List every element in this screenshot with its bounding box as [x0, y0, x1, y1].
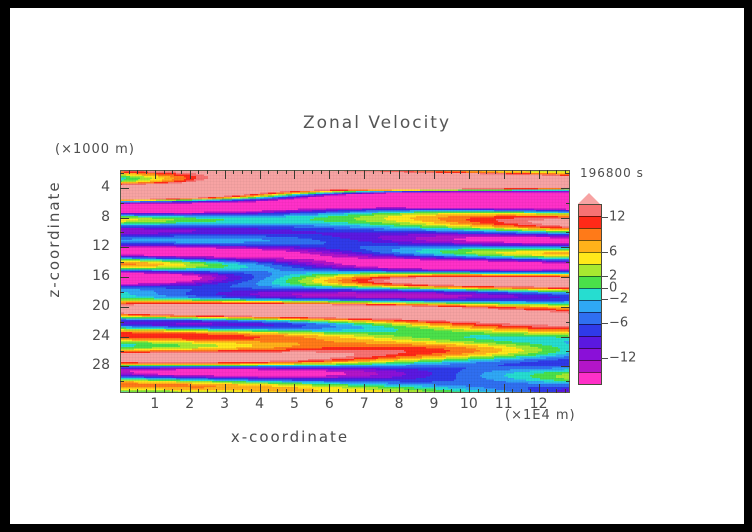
x-axis-tick-label: 5 [290, 396, 299, 412]
x-axis-minor-tick [495, 389, 496, 393]
colorbar-arrow-cap [578, 193, 600, 204]
figure-page: Zonal Velocity (×1000 m) (×1E4 m) x-coor… [0, 0, 752, 532]
colorbar-tick [601, 288, 608, 289]
y-axis-tick [561, 366, 570, 367]
x-axis-tick-label: 3 [220, 396, 229, 412]
y-axis-tick [120, 277, 129, 278]
x-axis-tick-label: 1 [150, 396, 159, 412]
x-axis-minor-tick [547, 389, 548, 393]
colorbar-body: 12620−2−6−12 [578, 204, 602, 385]
colorbar-tick [601, 252, 608, 253]
x-axis-minor-tick [312, 389, 313, 393]
colorbar-tick-label: −2 [609, 292, 628, 307]
y-axis-minor-tick [566, 292, 570, 293]
x-axis-minor-tick [129, 389, 130, 393]
y-axis-tick [120, 188, 129, 189]
colorbar-band [579, 264, 601, 276]
x-axis-minor-tick [338, 389, 339, 393]
x-axis-tick [539, 170, 540, 179]
x-axis-minor-tick [547, 170, 548, 174]
x-axis-minor-tick [530, 389, 531, 393]
colorbar-band [579, 205, 601, 216]
colorbar-tick [601, 299, 608, 300]
colorbar-band [579, 240, 601, 252]
x-axis-minor-tick [286, 170, 287, 174]
x-axis-tick-label: 10 [460, 396, 478, 412]
x-axis-tick [504, 384, 505, 393]
x-axis-minor-tick [216, 170, 217, 174]
x-axis-minor-tick [417, 170, 418, 174]
timestamp-annotation: 196800 s [580, 166, 644, 180]
x-axis-minor-tick [233, 170, 234, 174]
x-axis-minor-tick [146, 170, 147, 174]
x-axis-minor-tick [321, 389, 322, 393]
x-axis-minor-tick [556, 389, 557, 393]
plot-area [120, 170, 570, 393]
y-axis-tick [561, 247, 570, 248]
x-axis-minor-tick [207, 170, 208, 174]
y-axis-minor-tick [120, 262, 124, 263]
y-axis-minor-tick [120, 173, 124, 174]
colorbar-tick [601, 217, 608, 218]
y-axis-minor-tick [566, 203, 570, 204]
heatmap-field [120, 170, 570, 393]
x-axis-minor-tick [460, 170, 461, 174]
y-axis-tick [561, 277, 570, 278]
x-axis-tick-label: 7 [360, 396, 369, 412]
y-axis-tick [561, 188, 570, 189]
x-axis-minor-tick [408, 389, 409, 393]
x-axis-tick [155, 384, 156, 393]
x-axis-minor-tick [382, 170, 383, 174]
x-axis-tick [434, 384, 435, 393]
y-axis-tick [120, 218, 129, 219]
x-axis-tick [155, 170, 156, 179]
x-axis-tick [260, 170, 261, 179]
colorbar-band [579, 348, 601, 360]
x-axis-tick [364, 384, 365, 393]
figure-canvas: Zonal Velocity (×1000 m) (×1E4 m) x-coor… [10, 8, 744, 524]
x-axis-minor-tick [233, 389, 234, 393]
colorbar-tick-label: −6 [609, 315, 628, 330]
x-axis-minor-tick [486, 389, 487, 393]
x-axis-minor-tick [521, 389, 522, 393]
x-axis-minor-tick [286, 389, 287, 393]
x-axis-minor-tick [303, 170, 304, 174]
x-axis-minor-tick [408, 170, 409, 174]
x-axis-minor-tick [512, 389, 513, 393]
y-axis-minor-tick [120, 351, 124, 352]
chart-title: Zonal Velocity [10, 113, 744, 133]
x-axis-minor-tick [137, 389, 138, 393]
y-axis-tick [120, 307, 129, 308]
x-axis-tick [504, 170, 505, 179]
x-axis-minor-tick [137, 170, 138, 174]
y-axis-title: z-coordinate [45, 159, 63, 319]
x-axis-tick-label: 2 [185, 396, 194, 412]
y-axis-minor-tick [120, 203, 124, 204]
y-axis-minor-tick [566, 351, 570, 352]
colorbar-band [579, 360, 601, 372]
x-axis-tick [539, 384, 540, 393]
y-axis-minor-tick [566, 322, 570, 323]
colorbar-band [579, 312, 601, 324]
x-axis-tick [434, 170, 435, 179]
x-axis-minor-tick [146, 389, 147, 393]
x-axis-tick-label: 12 [530, 396, 548, 412]
x-axis-tick [469, 384, 470, 393]
x-axis-tick [329, 384, 330, 393]
x-axis-minor-tick [129, 170, 130, 174]
x-axis-tick [294, 170, 295, 179]
x-axis-minor-tick [530, 170, 531, 174]
x-axis-minor-tick [164, 389, 165, 393]
x-axis-minor-tick [164, 170, 165, 174]
x-axis-minor-tick [216, 389, 217, 393]
x-axis-minor-tick [451, 389, 452, 393]
x-axis-minor-tick [425, 389, 426, 393]
colorbar-tick [601, 323, 608, 324]
x-axis-tick [399, 384, 400, 393]
x-axis-minor-tick [198, 170, 199, 174]
x-axis-minor-tick [486, 170, 487, 174]
colorbar-band [579, 336, 601, 348]
x-axis-minor-tick [355, 170, 356, 174]
y-axis-unit-label: (×1000 m) [55, 142, 135, 157]
x-axis-tick [225, 384, 226, 393]
x-axis-minor-tick [251, 389, 252, 393]
y-axis-tick [561, 218, 570, 219]
colorbar: 12620−2−6−12 [578, 204, 600, 385]
x-axis-minor-tick [478, 170, 479, 174]
x-axis-tick [294, 384, 295, 393]
x-axis-minor-tick [390, 170, 391, 174]
x-axis-minor-tick [181, 170, 182, 174]
colorbar-band [579, 228, 601, 240]
x-axis-tick-label: 9 [429, 396, 438, 412]
x-axis-tick-label: 4 [255, 396, 264, 412]
y-axis-tick [120, 337, 129, 338]
y-axis-minor-tick [566, 381, 570, 382]
colorbar-tick-label: −12 [609, 351, 636, 366]
y-axis-minor-tick [120, 232, 124, 233]
colorbar-band [579, 372, 601, 384]
x-axis-minor-tick [478, 389, 479, 393]
x-axis-minor-tick [556, 170, 557, 174]
x-axis-minor-tick [277, 389, 278, 393]
x-axis-tick [260, 384, 261, 393]
x-axis-tick [364, 170, 365, 179]
x-axis-minor-tick [268, 170, 269, 174]
x-axis-minor-tick [460, 389, 461, 393]
x-axis-minor-tick [521, 170, 522, 174]
colorbar-band [579, 300, 601, 312]
x-axis-minor-tick [443, 389, 444, 393]
y-axis-minor-tick [566, 262, 570, 263]
y-axis-minor-tick [120, 381, 124, 382]
x-axis-minor-tick [181, 389, 182, 393]
colorbar-band [579, 276, 601, 288]
colorbar-tick [601, 358, 608, 359]
y-axis-tick [561, 307, 570, 308]
x-axis-minor-tick [172, 389, 173, 393]
y-axis-minor-tick [566, 173, 570, 174]
colorbar-band [579, 252, 601, 264]
colorbar-band [579, 216, 601, 228]
y-axis-tick [120, 366, 129, 367]
colorbar-tick-label: 6 [609, 245, 617, 260]
x-axis-tick [329, 170, 330, 179]
x-axis-tick [399, 170, 400, 179]
colorbar-band [579, 288, 601, 300]
colorbar-band [579, 324, 601, 336]
x-axis-minor-tick [251, 170, 252, 174]
x-axis-minor-tick [321, 170, 322, 174]
x-axis-minor-tick [277, 170, 278, 174]
x-axis-minor-tick [198, 389, 199, 393]
x-axis-minor-tick [373, 389, 374, 393]
y-axis-minor-tick [120, 322, 124, 323]
x-axis-minor-tick [242, 170, 243, 174]
x-axis-minor-tick [495, 170, 496, 174]
x-axis-tick-label: 8 [395, 396, 404, 412]
x-axis-minor-tick [390, 389, 391, 393]
x-axis-tick-label: 11 [495, 396, 513, 412]
y-axis-tick [561, 337, 570, 338]
x-axis-minor-tick [172, 170, 173, 174]
x-axis-minor-tick [355, 389, 356, 393]
x-axis-tick [469, 170, 470, 179]
y-axis-minor-tick [120, 292, 124, 293]
colorbar-tick [601, 276, 608, 277]
x-axis-minor-tick [207, 389, 208, 393]
x-axis-tick [225, 170, 226, 179]
x-axis-tick-label: 6 [325, 396, 334, 412]
x-axis-tick [190, 170, 191, 179]
x-axis-minor-tick [347, 170, 348, 174]
x-axis-tick [190, 384, 191, 393]
x-axis-minor-tick [312, 170, 313, 174]
x-axis-minor-tick [417, 389, 418, 393]
x-axis-minor-tick [425, 170, 426, 174]
x-axis-minor-tick [451, 170, 452, 174]
y-axis-minor-tick [566, 232, 570, 233]
x-axis-minor-tick [382, 389, 383, 393]
x-axis-minor-tick [512, 170, 513, 174]
x-axis-minor-tick [242, 389, 243, 393]
y-axis-tick [120, 247, 129, 248]
x-axis-title: x-coordinate [10, 428, 570, 446]
colorbar-tick-label: 12 [609, 209, 626, 224]
x-axis-minor-tick [347, 389, 348, 393]
x-axis-minor-tick [268, 389, 269, 393]
x-axis-minor-tick [303, 389, 304, 393]
x-axis-minor-tick [443, 170, 444, 174]
x-axis-minor-tick [373, 170, 374, 174]
x-axis-minor-tick [565, 389, 566, 393]
x-axis-minor-tick [338, 170, 339, 174]
